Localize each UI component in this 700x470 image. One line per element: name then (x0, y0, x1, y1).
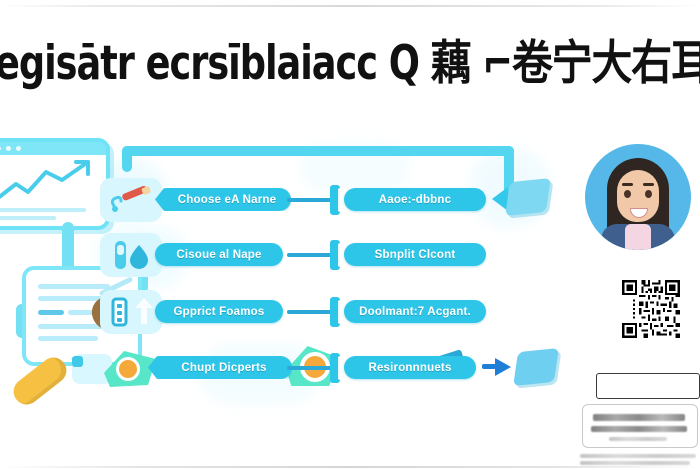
upload-list-icon[interactable] (100, 290, 162, 334)
qr-code[interactable] (620, 278, 682, 340)
flow-connector-1 (287, 198, 333, 202)
window-dot (16, 146, 21, 151)
flow-label-right-3[interactable]: Doolmant:7 Acgant. (344, 300, 486, 323)
avatar-eye-left (624, 190, 631, 198)
search-input[interactable] (596, 373, 700, 399)
info-line-3 (609, 437, 667, 441)
info-card (582, 404, 698, 448)
avatar[interactable] (585, 144, 691, 250)
flow-rail-left-stub (122, 146, 132, 172)
flow-connector-3 (287, 310, 333, 314)
flow-label-left-1[interactable]: Choose eA Narne (155, 188, 291, 211)
bottom-rule (0, 466, 700, 468)
flow-row-3: Gpprict Foamos Doolmant:7 Acgant. (0, 288, 560, 334)
flow-rail-top (122, 146, 514, 156)
window-dot (0, 146, 1, 151)
flow-label-right-1[interactable]: Aaoe:-dbbnc (344, 188, 486, 211)
flow-label-right-2[interactable]: Sbnplit Clcont (344, 243, 486, 266)
header-band: egisātr ecrsīblaiacc Q 藕 ⌐卷宁大右耳 (0, 0, 700, 118)
footnote-line-2 (580, 461, 690, 465)
window-dot (6, 146, 11, 151)
pen-droplet-icon[interactable] (100, 233, 162, 277)
flow-card-4 (513, 348, 559, 386)
avatar-shirt (625, 224, 651, 250)
screenshot-root: egisātr ecrsīblaiacc Q 藕 ⌐卷宁大右耳 (0, 0, 700, 470)
flow-row-2: Cisoue al Nape Sbnplit Clcont (0, 231, 560, 277)
avatar-eye-right (645, 190, 652, 198)
flow-arrow-stem-4 (482, 364, 496, 369)
diagram-canvas: Choose eA Narne Aaoe:-dbbnc Cisoue al Na… (0, 118, 700, 470)
flow-label-right-4[interactable]: Resironnnuets (344, 356, 476, 379)
flow-label-left-2[interactable]: Cisoue al Nape (155, 243, 283, 266)
form-line (38, 336, 98, 341)
page-title: egisātr ecrsīblaiacc Q 藕 ⌐卷宁大右耳 (0, 25, 700, 93)
pencil-ruler-icon[interactable] (100, 178, 162, 222)
header-top-rule (0, 5, 700, 7)
flow-label-left-3[interactable]: Gpprict Foamos (155, 300, 283, 323)
info-line-1 (593, 414, 685, 421)
info-line-2 (591, 426, 687, 432)
avatar-brow-right (643, 183, 654, 186)
flow-label-left-4[interactable]: Chupt Dicperts (148, 356, 292, 379)
flow-card-1 (505, 178, 551, 216)
flow-row-4: Chupt Dicperts Resironnnuets (0, 344, 560, 390)
footnote-line-1 (580, 454, 696, 458)
window-titlebar (0, 142, 106, 155)
flow-row-1: Choose eA Narne Aaoe:-dbbnc (0, 176, 560, 222)
flow-connector-4 (287, 366, 333, 370)
flow-connector-2 (287, 253, 333, 257)
avatar-circle (585, 144, 691, 250)
avatar-brow-left (622, 183, 633, 186)
flow-arrow-right-4 (495, 358, 511, 376)
